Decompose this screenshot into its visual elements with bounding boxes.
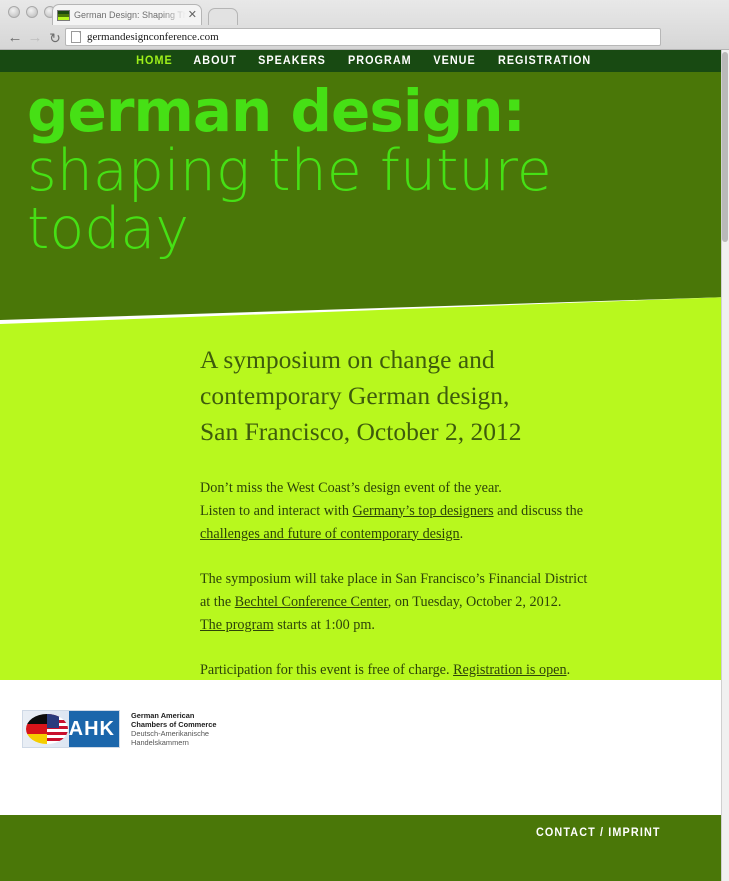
- minimize-window-button[interactable]: [26, 6, 38, 18]
- sponsor-strip: AHK German American Chambers of Commerce…: [0, 681, 729, 815]
- footer-link-contact-imprint[interactable]: CONTACT / IMPRINT: [536, 827, 661, 839]
- hero-title-line-3: today: [27, 202, 717, 257]
- address-bar[interactable]: germandesignconference.com: [65, 28, 661, 46]
- browser-window: German Design: Shaping The Future Today …: [0, 0, 729, 881]
- nav-list: HOME ABOUT SPEAKERS PROGRAM VENUE REGIST…: [126, 55, 604, 67]
- intro-text-a: Listen to and interact with: [200, 503, 352, 519]
- site-favicon-icon: [57, 10, 70, 21]
- site-navigation: HOME ABOUT SPEAKERS PROGRAM VENUE REGIST…: [0, 50, 729, 72]
- ahk-acronym: AHK: [69, 718, 115, 741]
- logo-ahk[interactable]: AHK German American Chambers of Commerce…: [22, 710, 216, 748]
- forward-arrow-icon[interactable]: →: [26, 29, 44, 47]
- venue-text-a: at the: [200, 594, 235, 610]
- intro-line-1: Don’t miss the West Coast’s design event…: [200, 477, 660, 500]
- ahk-name-line-2: Chambers of Commerce: [131, 720, 216, 729]
- browser-tab[interactable]: German Design: Shaping The Future Today …: [52, 4, 202, 25]
- close-tab-icon[interactable]: ✕: [188, 10, 197, 21]
- intro-line-3: challenges and future of contemporary de…: [200, 523, 660, 546]
- main-copy: A symposium on change and contemporary G…: [200, 342, 660, 704]
- close-window-button[interactable]: [8, 6, 20, 18]
- link-the-program[interactable]: The program: [200, 617, 274, 633]
- window-controls[interactable]: [8, 6, 56, 18]
- page-title-line-2: contemporary German design,: [200, 378, 660, 414]
- new-tab-button[interactable]: [208, 8, 238, 25]
- page-title: A symposium on change and contemporary G…: [200, 342, 660, 451]
- browser-chrome: German Design: Shaping The Future Today …: [0, 0, 729, 50]
- nav-item-speakers[interactable]: SPEAKERS: [250, 55, 335, 67]
- registration-paragraph: Participation for this event is free of …: [200, 659, 660, 682]
- back-arrow-icon[interactable]: ←: [6, 29, 24, 47]
- ahk-name-line-4: Handelskammern: [131, 738, 216, 747]
- venue-line-1: The symposium will take place in San Fra…: [200, 568, 660, 591]
- intro-line-2: Listen to and interact with Germany’s to…: [200, 500, 660, 523]
- page-title-line-3: San Francisco, October 2, 2012: [200, 414, 660, 450]
- main-content-band: A symposium on change and contemporary G…: [0, 280, 729, 680]
- ahk-name-block: German American Chambers of Commerce Deu…: [131, 711, 216, 747]
- page-scrollbar-thumb[interactable]: [722, 52, 728, 242]
- page-document-icon: [71, 31, 81, 43]
- tab-strip: German Design: Shaping The Future Today …: [0, 0, 729, 25]
- german-flag-half-icon: [26, 714, 47, 744]
- link-bechtel-conference-center[interactable]: Bechtel Conference Center: [235, 594, 388, 610]
- hero-banner: german design: shaping the future today: [0, 72, 729, 324]
- ahk-name-line-1: German American: [131, 711, 216, 720]
- intro-paragraph: Don’t miss the West Coast’s design event…: [200, 477, 660, 546]
- intro-text-b: and discuss the: [494, 503, 583, 519]
- venue-text-c: starts at 1:00 pm.: [274, 617, 375, 633]
- us-flag-half-icon: [47, 714, 68, 744]
- german-american-flag-icon: [26, 714, 68, 744]
- nav-item-program[interactable]: PROGRAM: [340, 55, 421, 67]
- venue-text-b: , on Tuesday, October 2, 2012.: [388, 594, 562, 610]
- nav-item-about[interactable]: ABOUT: [185, 55, 246, 67]
- link-challenges-and-future[interactable]: challenges and future of contemporary de…: [200, 526, 460, 542]
- hero-title-line-2: shaping the future: [27, 144, 717, 199]
- venue-line-2: at the Bechtel Conference Center, on Tue…: [200, 591, 660, 614]
- venue-line-3: The program starts at 1:00 pm.: [200, 614, 660, 637]
- nav-item-registration[interactable]: REGISTRATION: [490, 55, 600, 67]
- registration-text-b: .: [567, 662, 571, 678]
- registration-text-a: Participation for this event is free of …: [200, 662, 453, 678]
- reload-icon[interactable]: ↻: [46, 29, 64, 47]
- venue-paragraph: The symposium will take place in San Fra…: [200, 568, 660, 637]
- hero-title-block: german design: shaping the future today: [27, 84, 717, 257]
- nav-item-home[interactable]: HOME: [127, 55, 180, 67]
- ahk-logo-mark-icon: AHK: [22, 710, 120, 748]
- nav-item-venue[interactable]: VENUE: [425, 55, 484, 67]
- intro-text-c: .: [460, 526, 464, 542]
- link-registration-is-open[interactable]: Registration is open: [453, 662, 567, 678]
- page-title-line-1: A symposium on change and: [200, 342, 660, 378]
- ahk-name-line-3: Deutsch-Amerikanische: [131, 729, 216, 738]
- hero-title-line-1: german design:: [27, 84, 717, 140]
- site-footer: CONTACT / IMPRINT: [0, 815, 729, 881]
- address-bar-url: germandesignconference.com: [87, 31, 219, 43]
- link-germanys-top-designers[interactable]: Germany’s top designers: [352, 503, 493, 519]
- tab-title: German Design: Shaping The Future Today: [74, 10, 186, 20]
